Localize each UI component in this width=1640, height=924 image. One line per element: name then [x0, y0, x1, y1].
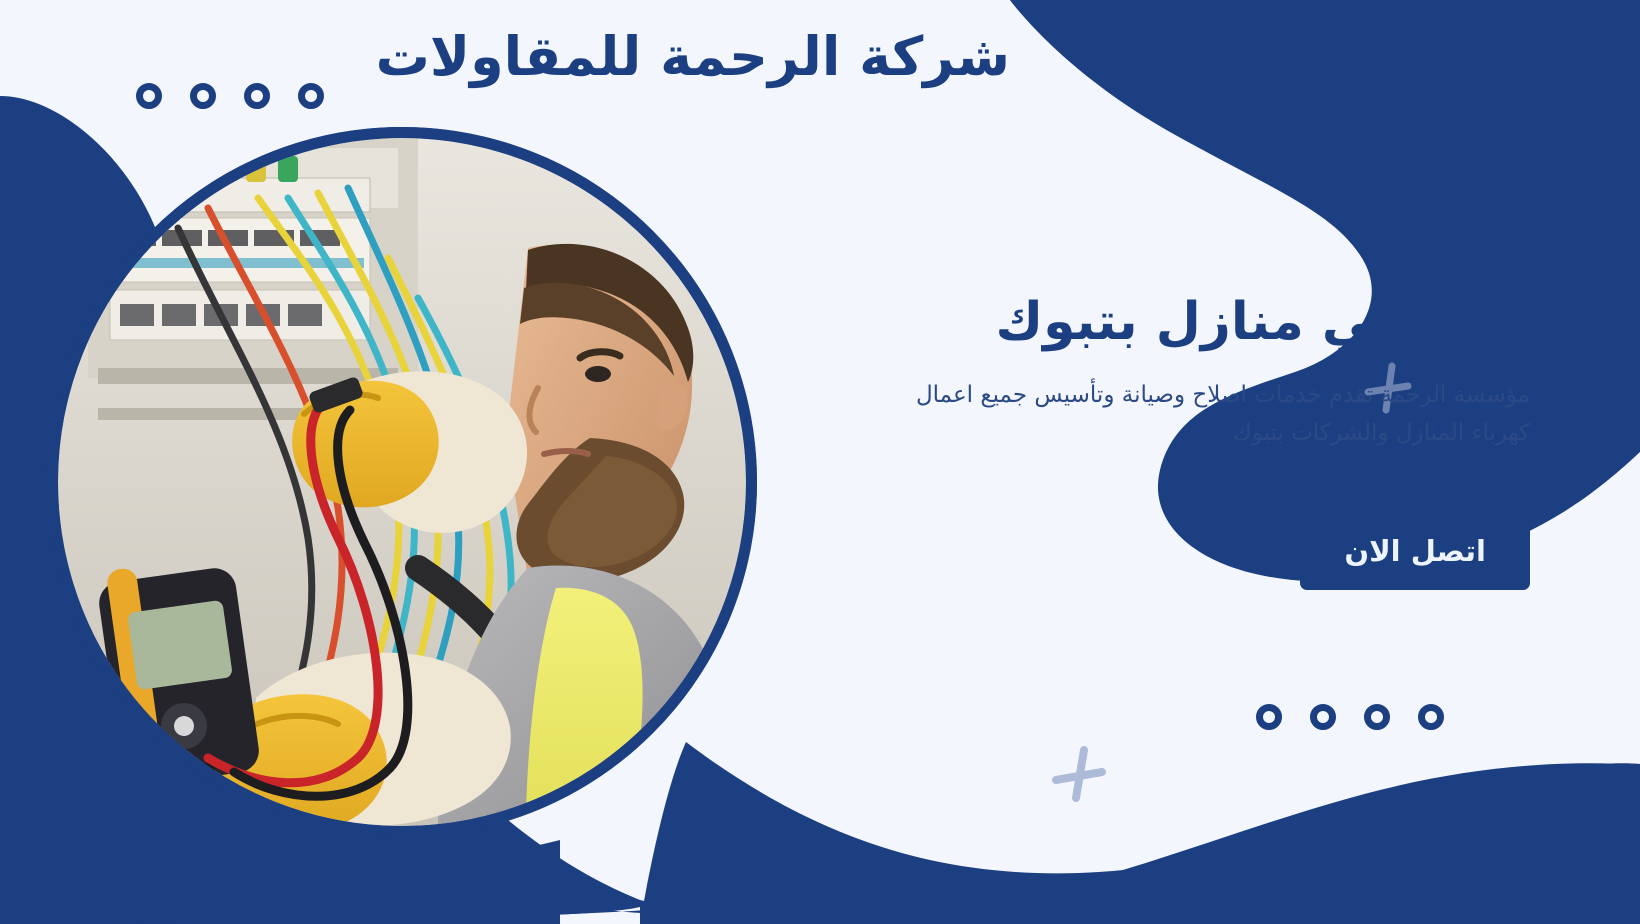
decor-dot: [1256, 704, 1282, 730]
decor-dots-bottom: [1256, 704, 1444, 730]
promo-banner: شركة الرحمة للمقاولات كهربائي منازل بتبو…: [0, 0, 1640, 924]
electrician-illustration: [58, 138, 746, 826]
call-now-button[interactable]: اتصل الان: [1300, 515, 1530, 590]
decor-dot: [1364, 704, 1390, 730]
company-title: شركة الرحمة للمقاولات: [376, 26, 1010, 88]
subtitle: مؤسسة الرحمة تقدم خدمات اصلاح وصيانة وتأ…: [910, 377, 1530, 453]
hero-photo: [47, 127, 757, 837]
decor-dot: [298, 83, 324, 109]
content-block: كهربائي منازل بتبوك مؤسسة الرحمة تقدم خد…: [910, 290, 1530, 590]
worker-head: [506, 244, 693, 583]
headline: كهربائي منازل بتبوك: [910, 290, 1530, 355]
decor-dot: [244, 83, 270, 109]
hero-photo-image: [58, 138, 746, 826]
decor-dot: [136, 83, 162, 109]
decor-dot: [1418, 704, 1444, 730]
decor-dots-top: [136, 83, 324, 109]
decor-dot: [190, 83, 216, 109]
decor-dot: [1310, 704, 1336, 730]
